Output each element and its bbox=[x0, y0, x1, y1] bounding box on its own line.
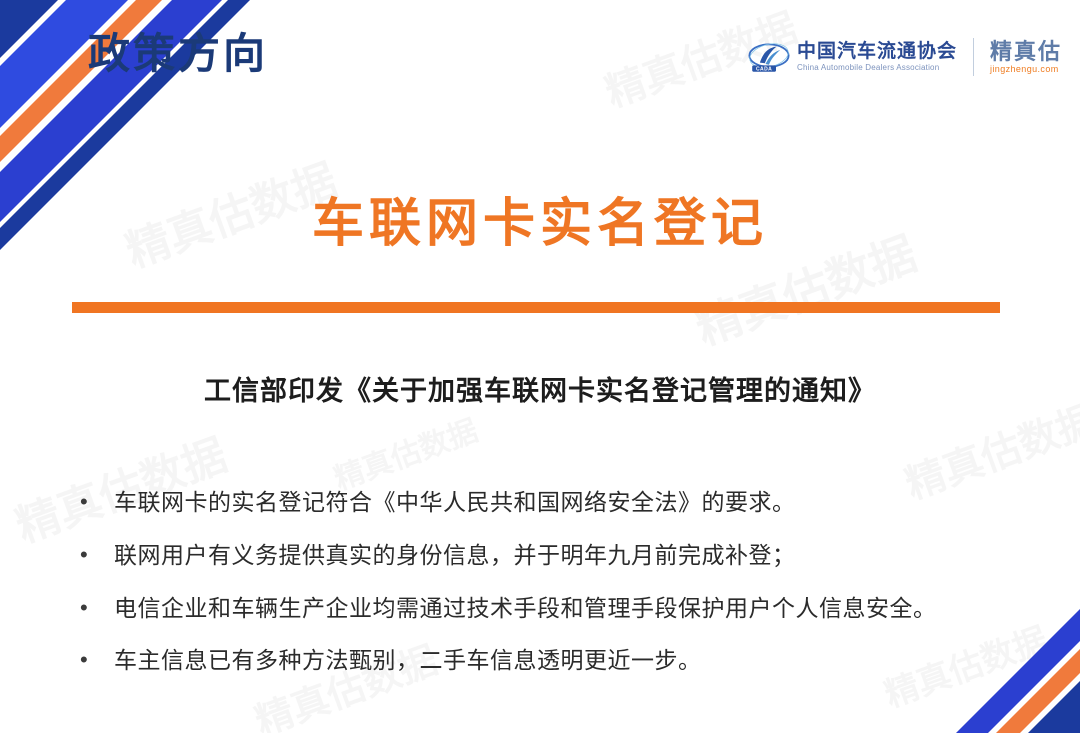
cada-name-cn: 中国汽车流通协会 bbox=[797, 42, 957, 62]
jingzhengu-name-cn: 精真估 bbox=[990, 40, 1062, 63]
list-item-text: 电信企业和车辆生产企业均需通过技术手段和管理手段保护用户个人信息安全。 bbox=[114, 594, 937, 623]
bullet-dot-icon: • bbox=[78, 488, 114, 516]
list-item: •联网用户有义务提供真实的身份信息，并于明年九月前完成补登； bbox=[78, 541, 1038, 570]
cada-logo: CADA 中国汽车流通协会 China Automobile Dealers A… bbox=[748, 40, 957, 74]
main-headline: 车联网卡实名登记 bbox=[0, 196, 1080, 253]
bullet-dot-icon: • bbox=[78, 541, 114, 569]
bullet-list: •车联网卡的实名登记符合《中华人民共和国网络安全法》的要求。•联网用户有义务提供… bbox=[78, 488, 1038, 675]
bullet-dot-icon: • bbox=[78, 594, 114, 622]
cada-logo-text: 中国汽车流通协会 China Automobile Dealers Associ… bbox=[797, 42, 957, 72]
watermark-text: 精真估数据 bbox=[327, 406, 483, 499]
list-item-text: 车主信息已有多种方法甄别，二手车信息透明更近一步。 bbox=[114, 646, 702, 675]
slide-root: 精真估数据精真估数据精真估数据精真估数据精真估数据精真估数据精真估数据精真估数据… bbox=[0, 0, 1080, 733]
list-item-text: 车联网卡的实名登记符合《中华人民共和国网络安全法》的要求。 bbox=[114, 488, 796, 517]
orange-divider bbox=[72, 302, 1000, 313]
subtitle: 工信部印发《关于加强车联网卡实名登记管理的通知》 bbox=[0, 375, 1080, 407]
svg-text:CADA: CADA bbox=[756, 67, 772, 73]
bullet-dot-icon: • bbox=[78, 646, 114, 674]
list-item: •电信企业和车辆生产企业均需通过技术手段和管理手段保护用户个人信息安全。 bbox=[78, 594, 1038, 623]
list-item: •车主信息已有多种方法甄别，二手车信息透明更近一步。 bbox=[78, 646, 1038, 675]
logo-divider bbox=[973, 38, 974, 76]
slide-header: 政策方向 CADA 中国汽车流通协会 China Automobile Deal… bbox=[0, 0, 1080, 120]
jingzhengu-url: jingzhengu.com bbox=[990, 65, 1062, 74]
list-item-text: 联网用户有义务提供真实的身份信息，并于明年九月前完成补登； bbox=[114, 541, 796, 570]
list-item: •车联网卡的实名登记符合《中华人民共和国网络安全法》的要求。 bbox=[78, 488, 1038, 517]
cada-emblem-icon: CADA bbox=[748, 40, 790, 74]
cada-name-en: China Automobile Dealers Association bbox=[797, 64, 957, 72]
logo-group: CADA 中国汽车流通协会 China Automobile Dealers A… bbox=[748, 38, 1062, 76]
page-title: 政策方向 bbox=[88, 33, 268, 75]
jingzhengu-logo: 精真估 jingzhengu.com bbox=[990, 40, 1062, 75]
